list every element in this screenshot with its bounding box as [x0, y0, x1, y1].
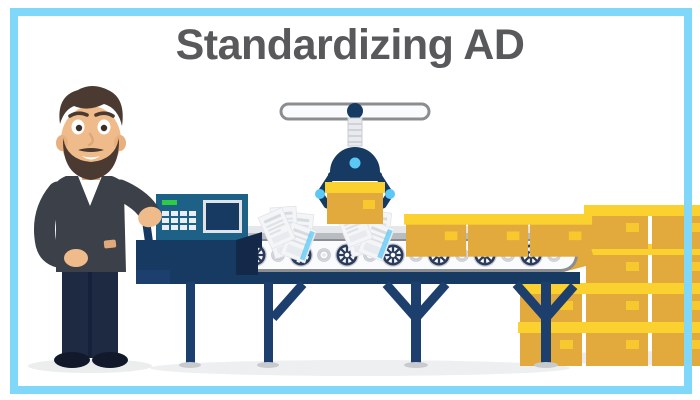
worker-leg-left	[62, 268, 88, 358]
robot-gripper-arm	[281, 103, 429, 224]
led-indicator	[162, 200, 177, 205]
worker-character	[45, 86, 165, 368]
illustration-canvas: Standardizing AD	[0, 0, 700, 400]
control-panel-screen	[206, 203, 239, 230]
robot-shaft	[348, 118, 362, 146]
held-box	[325, 182, 385, 224]
trolley-hub	[347, 103, 363, 119]
worker-shoe-right	[92, 352, 128, 368]
gripper-indicator	[350, 158, 361, 169]
conveyor-legs	[186, 282, 551, 364]
worker-leg-right	[92, 268, 118, 358]
conveyor-boxes	[404, 214, 592, 257]
arm-joint-right	[385, 189, 395, 199]
page-title: Standardizing AD	[0, 22, 700, 69]
worker-hand-left	[64, 249, 88, 267]
worker-shoe-left	[54, 352, 90, 368]
arm-joint-left	[315, 189, 325, 199]
